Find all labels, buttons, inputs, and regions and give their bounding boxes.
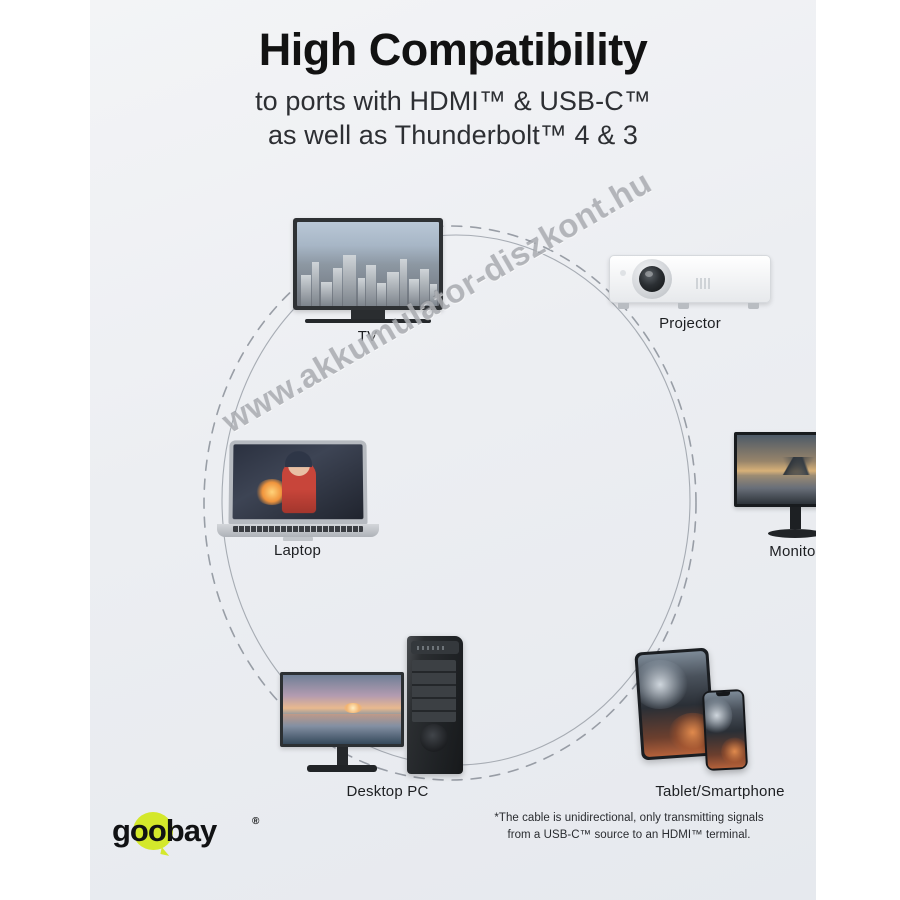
device-label-laptop: Laptop bbox=[210, 542, 385, 559]
laptop-trackpad bbox=[283, 537, 313, 541]
monitor-illustration bbox=[720, 432, 816, 538]
footer: goobay ® *The cable is unidirectional, o… bbox=[90, 810, 816, 866]
monitor-screen-image bbox=[737, 435, 816, 504]
laptop-keyboard bbox=[233, 526, 363, 532]
pc-tower-case bbox=[407, 636, 463, 774]
footnote-line-1: *The cable is unidirectional, only trans… bbox=[464, 810, 794, 827]
subtitle-line-1: to ports with HDMI™ & USB-C™ bbox=[90, 84, 816, 119]
device-node-monitor[interactable]: Monitor bbox=[720, 432, 816, 560]
device-label-tv: TV bbox=[280, 328, 455, 345]
device-label-tablet-smartphone: Tablet/Smartphone bbox=[620, 783, 816, 800]
content-panel: High Compatibility to ports with HDMI™ &… bbox=[90, 0, 816, 900]
device-label-monitor: Monitor bbox=[720, 543, 816, 560]
device-label-projector: Projector bbox=[595, 315, 785, 332]
laptop-illustration bbox=[210, 440, 385, 537]
device-label-desktop-pc: Desktop PC bbox=[280, 783, 495, 800]
page-title: High Compatibility bbox=[90, 26, 816, 75]
headline-block: High Compatibility to ports with HDMI™ &… bbox=[90, 26, 816, 153]
footnote: *The cable is unidirectional, only trans… bbox=[464, 810, 794, 843]
projector-lens-icon bbox=[632, 259, 672, 299]
logo-registered-mark: ® bbox=[252, 816, 259, 827]
smartphone-device bbox=[702, 689, 748, 771]
projector-illustration bbox=[595, 255, 785, 310]
subtitle-line-2: as well as Thunderbolt™ 4 & 3 bbox=[90, 118, 816, 153]
desktop-pc-illustration bbox=[280, 636, 495, 778]
device-node-tablet-smartphone[interactable]: Tablet/Smartphone bbox=[620, 650, 816, 800]
device-node-desktop-pc[interactable]: Desktop PC bbox=[280, 636, 495, 800]
poster-canvas: High Compatibility to ports with HDMI™ &… bbox=[0, 0, 900, 900]
tv-illustration bbox=[280, 218, 455, 323]
goobay-logo: goobay ® bbox=[112, 814, 282, 848]
device-node-projector[interactable]: Projector bbox=[595, 255, 785, 332]
footnote-line-2: from a USB-C™ source to an HDMI™ termina… bbox=[464, 827, 794, 844]
desktop-monitor-screen-image bbox=[283, 675, 401, 744]
device-node-tv[interactable]: TV bbox=[280, 218, 455, 345]
tv-screen-image bbox=[297, 246, 439, 306]
device-node-laptop[interactable]: Laptop bbox=[210, 440, 385, 559]
laptop-screen-image bbox=[232, 444, 363, 519]
tablet-smartphone-illustration bbox=[620, 650, 816, 778]
